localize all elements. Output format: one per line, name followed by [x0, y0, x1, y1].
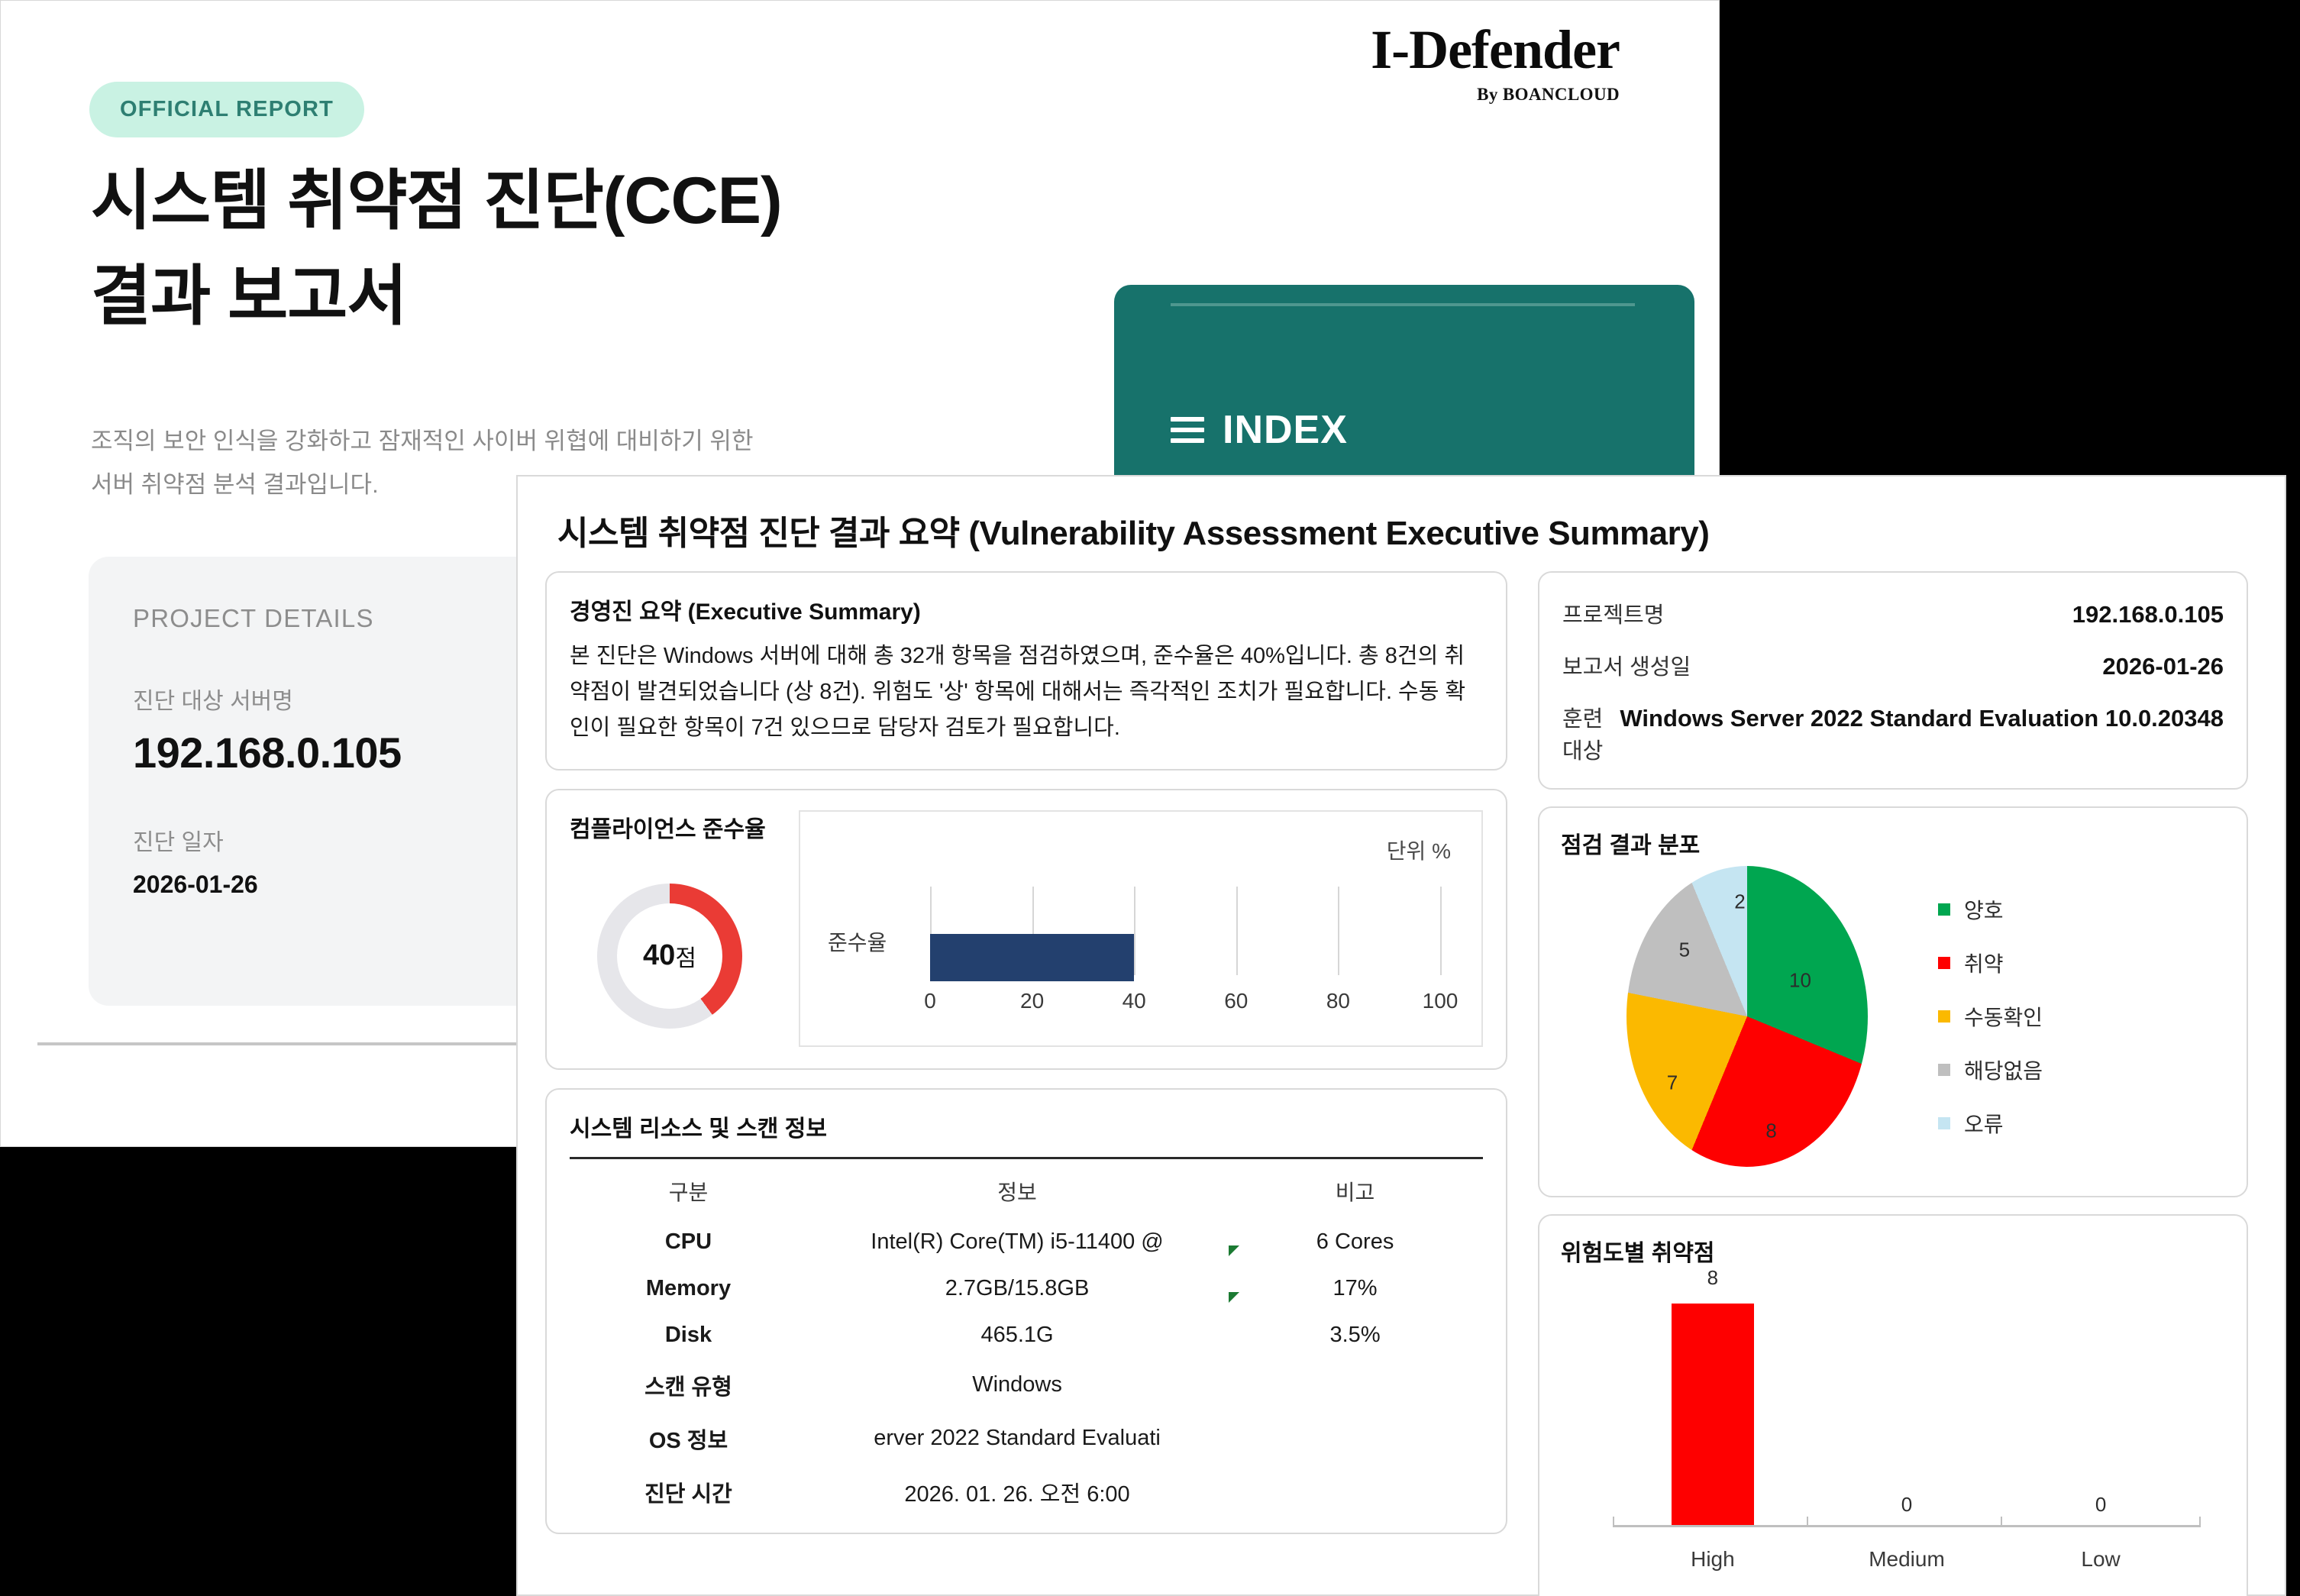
compliance-bar-category-label: 준수율	[828, 926, 887, 957]
x-tick-40: 40	[1123, 989, 1146, 1013]
x-tick-20: 20	[1020, 989, 1044, 1013]
executive-summary-card: 경영진 요약 (Executive Summary) 본 진단은 Windows…	[545, 571, 1507, 771]
compliance-gauge-section: 컴플라이언스 준수율 40점	[570, 810, 799, 1047]
executive-summary-body: 본 진단은 Windows 서버에 대해 총 32개 항목을 점검하였으며, 준…	[570, 638, 1483, 746]
row-key-memory: Memory	[570, 1265, 807, 1312]
legend-swatch-good	[1938, 903, 1950, 916]
meta-value-target: Windows Server 2022 Standard Evaluation …	[1620, 705, 2224, 732]
system-resources-rule	[570, 1157, 1483, 1159]
row-value-disk: 465.1G	[807, 1312, 1227, 1359]
risk-value-high: 8	[1707, 1266, 1718, 1290]
table-row: CPU Intel(R) Core(TM) i5-11400 @ 6 Cores	[570, 1219, 1483, 1265]
row-note-os-info	[1227, 1412, 1483, 1465]
row-value-memory: 2.7GB/15.8GB	[807, 1265, 1227, 1312]
meta-row-created: 보고서 생성일 2026-01-26	[1562, 649, 2224, 681]
gauge-score-unit: 점	[675, 939, 696, 973]
col-header-note: 비고	[1227, 1164, 1483, 1219]
row-key-os-info: OS 정보	[570, 1412, 807, 1465]
risk-plot-area: 8 0 0 High Medium Low	[1613, 1306, 2201, 1527]
legend-item-error: 오류	[1938, 1108, 2043, 1139]
row-note-scan-time	[1227, 1465, 1483, 1519]
brand-logo-name: I-Defender	[1371, 22, 1620, 77]
risk-axis-line	[1613, 1525, 2201, 1527]
risk-level-card: 위험도별 취약점 8 0 0 High Medium Low	[1538, 1214, 2248, 1596]
meta-label-target: 훈련 대상	[1562, 701, 1620, 765]
result-distribution-card: 점검 결과 분포 10 8 7 5 2 양호	[1538, 806, 2248, 1197]
x-tick-80: 80	[1326, 989, 1350, 1013]
row-key-cpu: CPU	[570, 1219, 807, 1265]
brand-logo-byline: By BOANCLOUD	[1371, 85, 1620, 105]
row-key-scan-type: 스캔 유형	[570, 1359, 807, 1412]
x-tick-0: 0	[924, 989, 936, 1013]
table-row: Memory 2.7GB/15.8GB 17%	[570, 1265, 1483, 1312]
compliance-heading: 컴플라이언스 준수율	[570, 810, 799, 844]
meta-value-project: 192.168.0.105	[2072, 601, 2224, 628]
meta-row-target: 훈련 대상 Windows Server 2022 Standard Evalu…	[1562, 701, 2224, 765]
pie-label-manual: 7	[1667, 1071, 1678, 1094]
legend-swatch-weak	[1938, 957, 1950, 969]
legend-item-good: 양호	[1938, 894, 2043, 925]
row-value-cpu: Intel(R) Core(TM) i5-11400 @	[807, 1219, 1227, 1265]
legend-label-error: 오류	[1964, 1108, 2004, 1139]
project-meta-card: 프로젝트명 192.168.0.105 보고서 생성일 2026-01-26 훈…	[1538, 571, 2248, 790]
row-key-scan-time: 진단 시간	[570, 1465, 807, 1519]
row-value-scan-type: Windows	[807, 1359, 1227, 1412]
index-card-rule	[1171, 303, 1635, 306]
page-title-line-1: 시스템 취약점 진단(CCE)	[91, 153, 1045, 249]
scan-date-value: 2026-01-26	[133, 871, 258, 899]
page-title: 시스템 취약점 진단(CCE) 결과 보고서	[91, 153, 1045, 344]
gauge-score: 40	[643, 939, 675, 972]
panel-left-column: 경영진 요약 (Executive Summary) 본 진단은 Windows…	[545, 571, 1507, 1596]
page-subtitle-line-1: 조직의 보안 인식을 강화하고 잠재적인 사이버 위협에 대비하기 위한	[91, 419, 992, 463]
panel-right-column: 프로젝트명 192.168.0.105 보고서 생성일 2026-01-26 훈…	[1538, 571, 2248, 1596]
risk-category-medium: Medium	[1869, 1547, 1945, 1572]
compliance-card: 컴플라이언스 준수율 40점 단위 % 준수율	[545, 789, 1507, 1070]
hamburger-menu-icon	[1171, 411, 1204, 449]
brand-logo: I-Defender By BOANCLOUD	[1371, 22, 1620, 105]
row-value-scan-time: 2026. 01. 26. 오전 6:00	[807, 1465, 1227, 1519]
compliance-bar	[930, 934, 1134, 981]
compliance-plot-area	[930, 887, 1440, 975]
table-row: Disk 465.1G 3.5%	[570, 1312, 1483, 1359]
risk-value-medium: 0	[1901, 1493, 1912, 1517]
executive-summary-panel: 시스템 취약점 진단 결과 요약 (Vulnerability Assessme…	[516, 475, 2286, 1596]
pie-label-weak: 8	[1765, 1119, 1776, 1142]
meta-label-created: 보고서 생성일	[1562, 649, 1691, 681]
legend-item-weak: 취약	[1938, 948, 2043, 978]
row-note-scan-type	[1227, 1359, 1483, 1412]
row-note-disk: 3.5%	[1227, 1312, 1483, 1359]
screenshot-root: OFFICIAL REPORT 시스템 취약점 진단(CCE) 결과 보고서 조…	[0, 0, 2300, 1596]
legend-item-manual: 수동확인	[1938, 1001, 2043, 1032]
legend-swatch-na	[1938, 1064, 1950, 1076]
official-report-badge: OFFICIAL REPORT	[89, 82, 364, 137]
row-note-cpu: 6 Cores	[1227, 1219, 1483, 1265]
risk-category-high: High	[1691, 1547, 1735, 1572]
result-distribution-heading: 점검 결과 분포	[1561, 826, 2225, 860]
risk-category-low: Low	[2081, 1547, 2120, 1572]
table-row: OS 정보 erver 2022 Standard Evaluati	[570, 1412, 1483, 1465]
panel-title: 시스템 취약점 진단 결과 요약 (Vulnerability Assessme…	[557, 506, 2257, 554]
pie-chart: 10 8 7 5 2 양호	[1561, 860, 2225, 1173]
page-title-line-2: 결과 보고서	[91, 249, 1045, 344]
legend-label-weak: 취약	[1964, 948, 2004, 978]
compliance-x-axis: 0 20 40 60 80 100	[930, 989, 1440, 1015]
pie-label-good: 10	[1789, 968, 1811, 992]
system-resources-table: 구분 정보 비고 CPU Intel(R) Core(TM) i5-11400 …	[570, 1164, 1483, 1519]
legend-item-na: 해당없음	[1938, 1055, 2043, 1085]
pie-label-error: 2	[1734, 890, 1745, 914]
row-key-disk: Disk	[570, 1312, 807, 1359]
risk-level-heading: 위험도별 취약점	[1561, 1234, 2225, 1268]
meta-label-project: 프로젝트명	[1562, 597, 1664, 629]
chart-unit-note: 단위 %	[1387, 835, 1451, 865]
compliance-bar-chart: 단위 % 준수율 0 20	[799, 810, 1483, 1047]
meta-row-project: 프로젝트명 192.168.0.105	[1562, 597, 2224, 629]
row-value-os-info: erver 2022 Standard Evaluati	[807, 1412, 1227, 1465]
pie-label-na: 5	[1679, 939, 1690, 962]
pie-slices: 10 8 7 5 2	[1626, 866, 1868, 1167]
meta-value-created: 2026-01-26	[2102, 653, 2224, 680]
x-tick-100: 100	[1423, 989, 1458, 1013]
table-header-row: 구분 정보 비고	[570, 1164, 1483, 1219]
col-header-info: 정보	[807, 1164, 1227, 1219]
legend-swatch-manual	[1938, 1010, 1950, 1023]
executive-summary-heading: 경영진 요약 (Executive Summary)	[570, 593, 1483, 626]
compliance-gauge: 40점	[597, 884, 742, 1029]
panel-grid: 경영진 요약 (Executive Summary) 본 진단은 Windows…	[545, 571, 2257, 1596]
index-label-text: INDEX	[1223, 407, 1348, 453]
table-row: 진단 시간 2026. 01. 26. 오전 6:00	[570, 1465, 1483, 1519]
system-resources-heading: 시스템 리소스 및 스캔 정보	[570, 1110, 1483, 1143]
legend-label-manual: 수동확인	[1964, 1001, 2043, 1032]
index-card-label: INDEX	[1171, 407, 1348, 453]
col-header-category: 구분	[570, 1164, 807, 1219]
system-resources-card: 시스템 리소스 및 스캔 정보 구분 정보 비고 CPU	[545, 1088, 1507, 1534]
scan-date-label: 진단 일자	[133, 823, 224, 857]
table-row: 스캔 유형 Windows	[570, 1359, 1483, 1412]
pie-legend: 양호 취약 수동확인	[1938, 871, 2043, 1161]
gauge-value: 40점	[597, 884, 742, 1029]
x-tick-60: 60	[1224, 989, 1248, 1013]
legend-swatch-error	[1938, 1117, 1950, 1129]
legend-label-na: 해당없음	[1964, 1055, 2043, 1085]
row-note-memory: 17%	[1227, 1265, 1483, 1312]
risk-value-low: 0	[2095, 1493, 2106, 1517]
risk-bar-high	[1672, 1304, 1754, 1525]
legend-label-good: 양호	[1964, 894, 2004, 925]
